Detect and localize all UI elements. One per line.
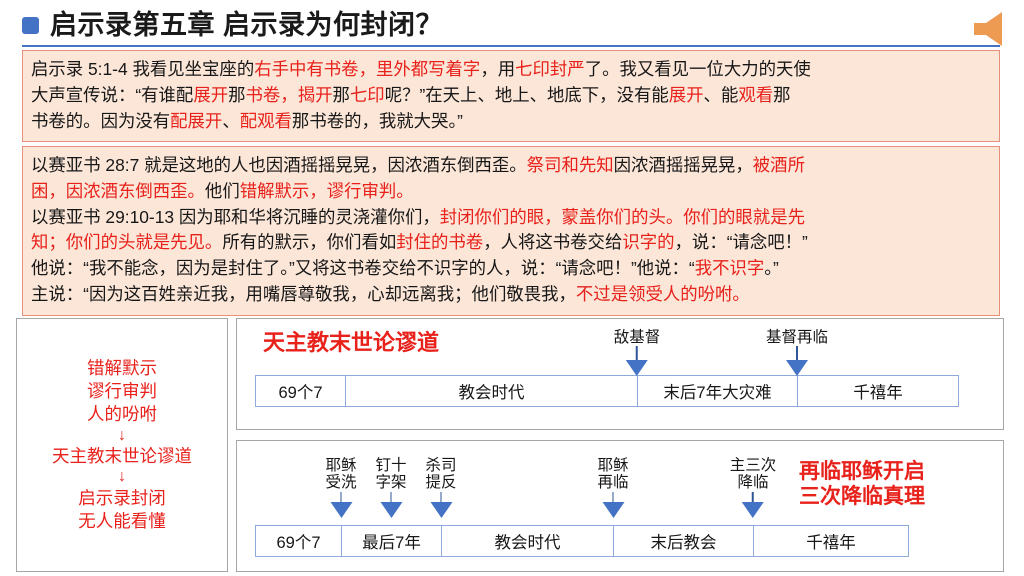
marker-label: 耶稣 <box>325 457 356 474</box>
scripture-span: 揭开 <box>298 85 333 105</box>
scripture-span: 七印封严 <box>515 59 585 79</box>
marker-label: 降临 <box>737 474 768 491</box>
scripture-span: 配展开 <box>170 111 222 131</box>
scripture-span: 展开 <box>193 85 228 105</box>
marker-stem <box>340 492 342 502</box>
scripture-span: 呢？”在天上、地上、地底下，没有能 <box>385 85 669 105</box>
scripture-span: 他们 <box>205 181 240 201</box>
timeline-bottom-bar-wrap: 69个7最后7年教会时代末后教会千禧年 <box>255 525 909 557</box>
scripture-span: 错解默示，谬行审判。 <box>240 181 414 201</box>
scripture-box-revelation: 启示录 5:1-4 我看见坐宝座的右手中有书卷，里外都写着字，用七印封严了。我又… <box>22 50 1000 142</box>
down-arrow-icon: ↓ <box>118 427 126 445</box>
scripture-line: 以赛亚书 28:7 就是这地的人也因酒摇摇晃晃，因浓酒东倒西歪。祭司和先知因浓酒… <box>31 153 991 179</box>
scripture-span: 不过是领受人的吩咐。 <box>576 284 750 304</box>
timeline-bottom-marker-2: 杀司提反 <box>425 457 456 518</box>
scripture-span: 、 <box>222 111 239 131</box>
marker-triangle-icon <box>380 502 402 518</box>
scripture-span: 展开 <box>669 85 704 105</box>
scripture-span: 观看 <box>738 85 773 105</box>
timeline-top-marker-1: 基督再临 <box>766 329 828 376</box>
timeline-top-marker-0: 敌基督 <box>614 329 661 376</box>
timeline-bottom-note: 再临耶稣开启三次降临真理 <box>799 459 925 509</box>
scripture-line: 主说：“因为这百姓亲近我，用嘴唇尊敬我，心却远离我；他们敬畏我，不过是领受人的吩… <box>31 282 991 308</box>
marker-triangle-icon <box>786 360 808 376</box>
scripture-span: ，说：“请念吧！” <box>675 232 808 252</box>
conclusion-line: 人的吩咐 <box>87 403 157 426</box>
scripture-span: 书卷的。因为没有 <box>31 111 170 131</box>
scripture-span: 那 <box>228 85 245 105</box>
marker-triangle-icon <box>742 502 764 518</box>
timeline-panel-truth: 69个7最后7年教会时代末后教会千禧年 耶稣受洗钉十字架杀司提反耶稣再临主三次降… <box>236 440 1004 572</box>
scripture-span: 被酒所 <box>753 155 805 175</box>
marker-stem <box>612 492 614 502</box>
scripture-span: 右手中有书卷，里外都写着字 <box>254 59 480 79</box>
scripture-span: ，人将这书卷交给 <box>483 232 622 252</box>
scripture-line: 大声宣传说：“有谁配展开那书卷，揭开那七印呢？”在天上、地上、地底下，没有能展开… <box>31 83 991 109</box>
scripture-span: 识字的 <box>622 232 674 252</box>
marker-label: 耶稣 <box>597 457 628 474</box>
marker-stem <box>752 492 754 502</box>
timeline-top-bar: 69个7教会时代末后7年大灾难千禧年 <box>255 375 959 407</box>
marker-triangle-icon <box>602 502 624 518</box>
scripture-span: 、能 <box>704 85 739 105</box>
timeline-top-bar-wrap: 69个7教会时代末后7年大灾难千禧年 <box>255 375 959 407</box>
marker-stem <box>440 492 442 502</box>
scripture-span: 封住的书卷 <box>396 232 483 252</box>
scripture-span: 他说：“我不能念，因为是封住了。”又将这书卷交给不识字的人，说：“请念吧！”他说… <box>31 258 695 278</box>
down-arrow-icon: ↓ <box>118 468 126 486</box>
scripture-span: 困，因浓酒东倒西歪。 <box>31 181 205 201</box>
marker-stem <box>390 492 392 502</box>
note-line: 三次降临真理 <box>799 484 925 509</box>
conclusion-line: 无人能看懂 <box>78 510 166 533</box>
timeline-top-cell-0[interactable]: 69个7 <box>256 376 346 406</box>
scripture-span: 祭司和先知 <box>527 155 614 175</box>
conclusion-line: 天主教末世论谬道 <box>52 445 192 468</box>
marker-stem <box>636 346 638 360</box>
scripture-span: 配观看 <box>240 111 292 131</box>
scripture-span: 所有的默示，你们看如 <box>222 232 396 252</box>
conclusion-text-stack: 错解默示谬行审判人的吩咐↓天主教末世论谬道↓启示录封闭无人能看懂 <box>17 319 227 571</box>
timeline-bottom-cell-3[interactable]: 末后教会 <box>614 526 754 556</box>
scripture-span: 以赛亚书 29:10-13 因为耶和华将沉睡的灵浇灌你们， <box>31 207 440 227</box>
timeline-bottom-cell-4[interactable]: 千禧年 <box>754 526 908 556</box>
scripture-span: ，用 <box>480 59 515 79</box>
marker-label: 基督再临 <box>766 329 828 346</box>
timeline-bottom-marker-1: 钉十字架 <box>375 457 406 518</box>
scripture-box-isaiah: 以赛亚书 28:7 就是这地的人也因酒摇摇晃晃，因浓酒东倒西歪。祭司和先知因浓酒… <box>22 146 1000 316</box>
scripture-span: 那书卷的，我就大哭。” <box>292 111 463 131</box>
marker-label: 受洗 <box>325 474 356 491</box>
timeline-bottom-bar: 69个7最后7年教会时代末后教会千禧年 <box>255 525 909 557</box>
marker-label: 钉十 <box>375 457 406 474</box>
scripture-line: 书卷的。因为没有配展开、配观看那书卷的，我就大哭。” <box>31 109 991 135</box>
marker-label: 杀司 <box>425 457 456 474</box>
scripture-span: 我不识字 <box>695 258 765 278</box>
scripture-span: 七印 <box>350 85 385 105</box>
scripture-span: 启示录 5:1-4 我看见坐宝座的 <box>31 59 254 79</box>
marker-label: 敌基督 <box>614 329 661 346</box>
marker-triangle-icon <box>330 502 352 518</box>
marker-triangle-icon <box>626 360 648 376</box>
note-line: 再临耶稣开启 <box>799 459 925 484</box>
marker-label: 提反 <box>425 474 456 491</box>
conclusion-line: 错解默示 <box>87 357 157 380</box>
scripture-span: 那 <box>333 85 350 105</box>
timeline-panel-catholic: 天主教末世论谬道 69个7教会时代末后7年大灾难千禧年 敌基督基督再临 <box>236 318 1004 430</box>
scripture-span: 那 <box>773 85 790 105</box>
scripture-span: 因浓酒摇摇晃晃， <box>614 155 753 175</box>
conclusion-panel: 错解默示谬行审判人的吩咐↓天主教末世论谬道↓启示录封闭无人能看懂 <box>16 318 228 572</box>
scripture-span: 书卷， <box>246 85 298 105</box>
scripture-line: 启示录 5:1-4 我看见坐宝座的右手中有书卷，里外都写着字，用七印封严了。我又… <box>31 57 991 83</box>
timeline-bottom-marker-3: 耶稣再临 <box>597 457 628 518</box>
conclusion-line: 谬行审判 <box>87 380 157 403</box>
scripture-span: 知；你们的头就是先见。 <box>31 232 222 252</box>
scripture-span: 封闭你们的眼， <box>440 207 562 227</box>
slide-title-row: 启示录第五章 启示录为何封闭？ <box>22 6 962 44</box>
scripture-line: 他说：“我不能念，因为是封住了。”又将这书卷交给不识字的人，说：“请念吧！”他说… <box>31 256 991 282</box>
scripture-span: 大声宣传说：“有谁配 <box>31 85 193 105</box>
timeline-bottom-cell-1[interactable]: 最后7年 <box>342 526 442 556</box>
marker-label: 主三次 <box>730 457 777 474</box>
scripture-span: 以赛亚书 28:7 就是这地的人也因酒摇摇晃晃，因浓酒东倒西歪。 <box>31 155 527 175</box>
marker-label: 字架 <box>375 474 406 491</box>
marker-label: 再临 <box>597 474 628 491</box>
scripture-line: 知；你们的头就是先见。所有的默示，你们看如封住的书卷，人将这书卷交给识字的，说：… <box>31 230 991 256</box>
scripture-span: 了。我又看见一位大力的天使 <box>585 59 811 79</box>
timeline-bottom-cell-0[interactable]: 69个7 <box>256 526 342 556</box>
timeline-bottom-marker-4: 主三次降临 <box>730 457 777 518</box>
marker-stem <box>796 346 798 360</box>
speaker-icon[interactable] <box>972 6 1024 50</box>
timeline-top-cell-3[interactable]: 千禧年 <box>798 376 958 406</box>
scripture-span: 。” <box>764 258 778 278</box>
timeline-top-cell-2[interactable]: 末后7年大灾难 <box>638 376 798 406</box>
title-divider <box>22 45 1000 47</box>
marker-triangle-icon <box>430 502 452 518</box>
timeline-bottom-marker-0: 耶稣受洗 <box>325 457 356 518</box>
scripture-line: 以赛亚书 29:10-13 因为耶和华将沉睡的灵浇灌你们，封闭你们的眼，蒙盖你们… <box>31 205 991 231</box>
timeline-top-title: 天主教末世论谬道 <box>263 325 439 357</box>
conclusion-line: 启示录封闭 <box>78 487 166 510</box>
scripture-span: 主说：“因为这百姓亲近我，用嘴唇尊敬我，心却远离我；他们敬畏我， <box>31 284 576 304</box>
timeline-top-cell-1[interactable]: 教会时代 <box>346 376 638 406</box>
page-title: 启示录第五章 启示录为何封闭？ <box>50 12 443 39</box>
title-bullet-icon <box>22 17 39 34</box>
scripture-line: 困，因浓酒东倒西歪。他们错解默示，谬行审判。 <box>31 179 991 205</box>
scripture-span: 蒙盖你们的头。你们的眼就是先 <box>562 207 805 227</box>
timeline-bottom-cell-2[interactable]: 教会时代 <box>442 526 614 556</box>
slide-canvas: 启示录第五章 启示录为何封闭？ 启示录 5:1-4 我看见坐宝座的右手中有书卷，… <box>0 0 1024 576</box>
